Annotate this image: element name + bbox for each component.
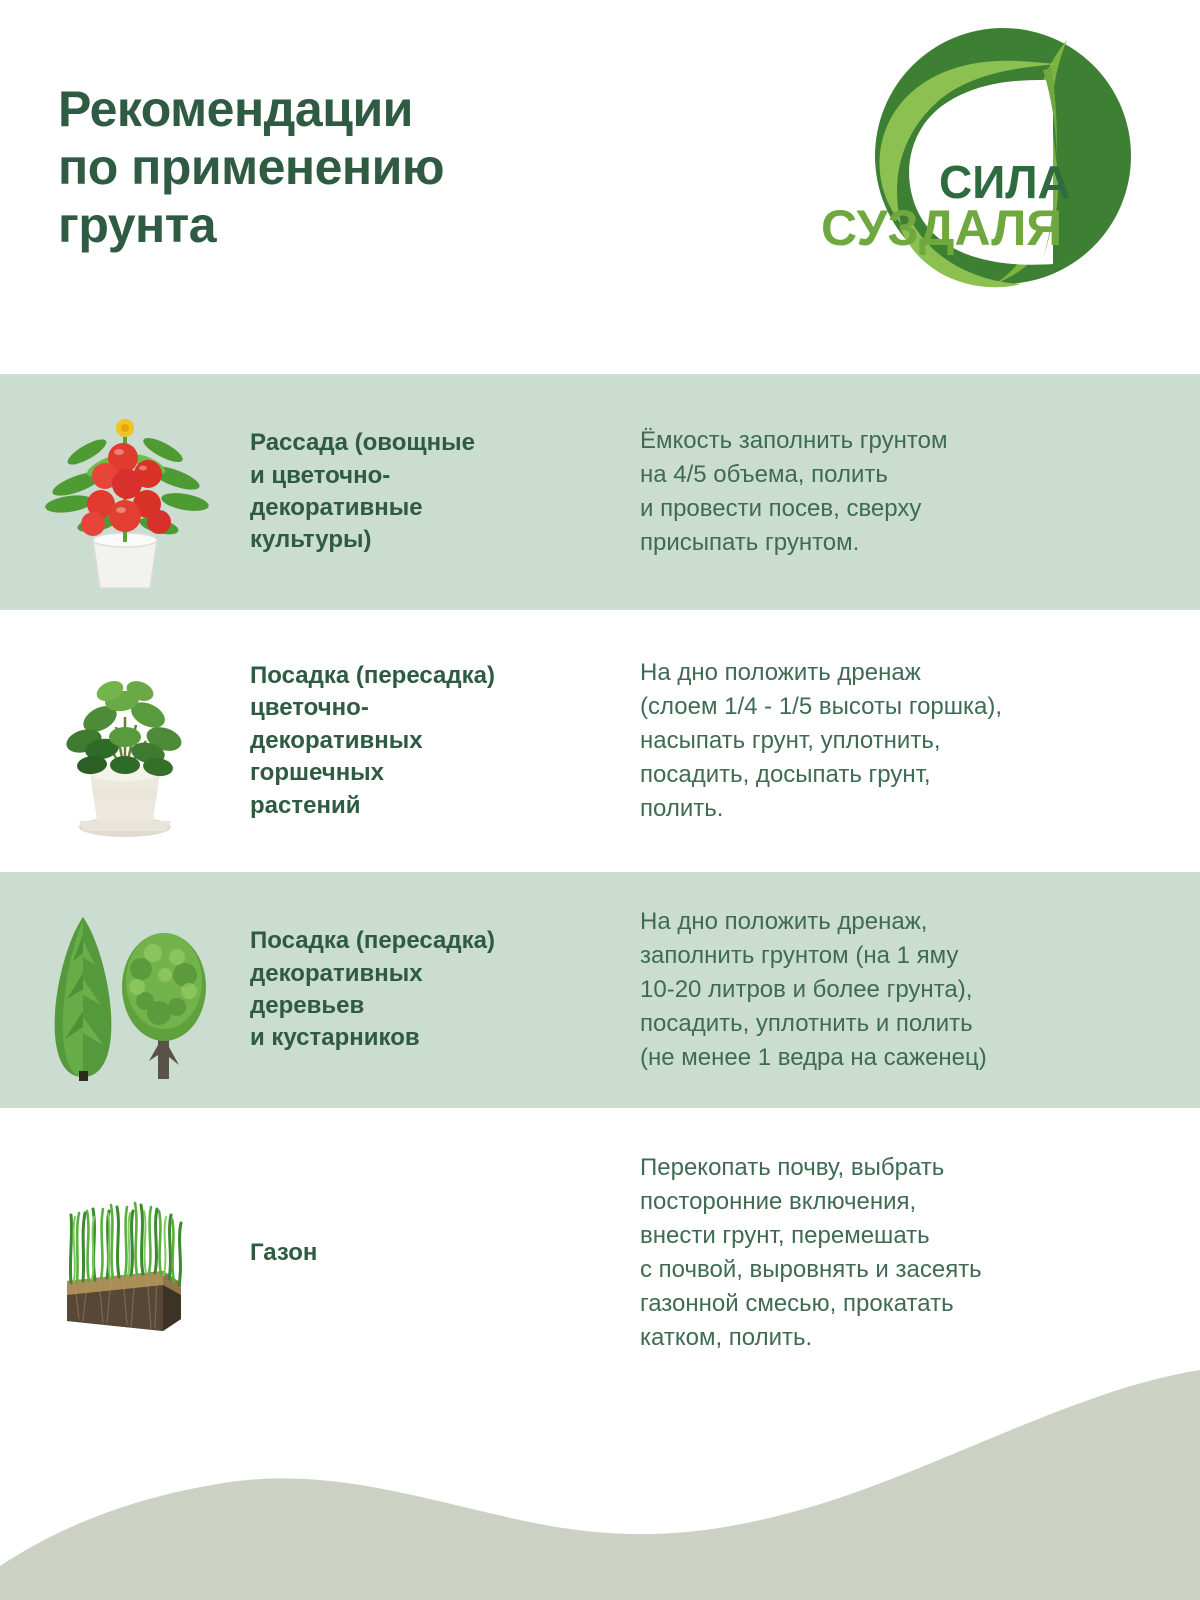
page-title: Рекомендации по применению грунта [58,80,698,254]
table-row: Рассада (овощные и цветочно- декоративны… [0,374,1200,610]
row-image-cell [0,610,250,872]
row-title: Газон [250,1237,640,1269]
tomato-seedling-in-pot-image [35,392,215,592]
table-row: Газон Перекопать почву, выбрать посторон… [0,1108,1200,1398]
logo-line2: СУЗДАЛЯ [821,200,1062,256]
potted-houseplant-image [40,641,210,841]
bottom-wave-decoration [0,1370,1200,1600]
row-description: Перекопать почву, выбрать посторонние вк… [640,1151,1200,1355]
table-row: Посадка (пересадка) цветочно- декоративн… [0,610,1200,872]
row-description: Ёмкость заполнить грунтом на 4/5 объема,… [640,424,1200,560]
sila-suzdalya-logo: СИЛА СУЗДАЛЯ СИЛА СУЗДАЛЯ [795,18,1165,293]
decorative-trees-image [25,895,225,1085]
row-title: Посадка (пересадка) декоративных деревье… [250,925,640,1055]
row-description: На дно положить дренаж, заполнить грунто… [640,905,1200,1075]
row-title: Рассада (овощные и цветочно- декоративны… [250,427,640,557]
header: Рекомендации по применению грунта СИЛА [0,0,1200,374]
row-image-cell [0,374,250,610]
row-title: Посадка (пересадка) цветочно- декоративн… [250,660,640,822]
row-image-cell [0,1108,250,1398]
infographic-page: Рекомендации по применению грунта СИЛА [0,0,1200,1600]
recommendations-table: Рассада (овощные и цветочно- декоративны… [0,374,1200,1398]
table-row: Посадка (пересадка) декоративных деревье… [0,872,1200,1108]
row-description: На дно положить дренаж (слоем 1/4 - 1/5 … [640,656,1200,826]
row-image-cell [0,872,250,1108]
lawn-turf-block-image [33,1163,218,1343]
